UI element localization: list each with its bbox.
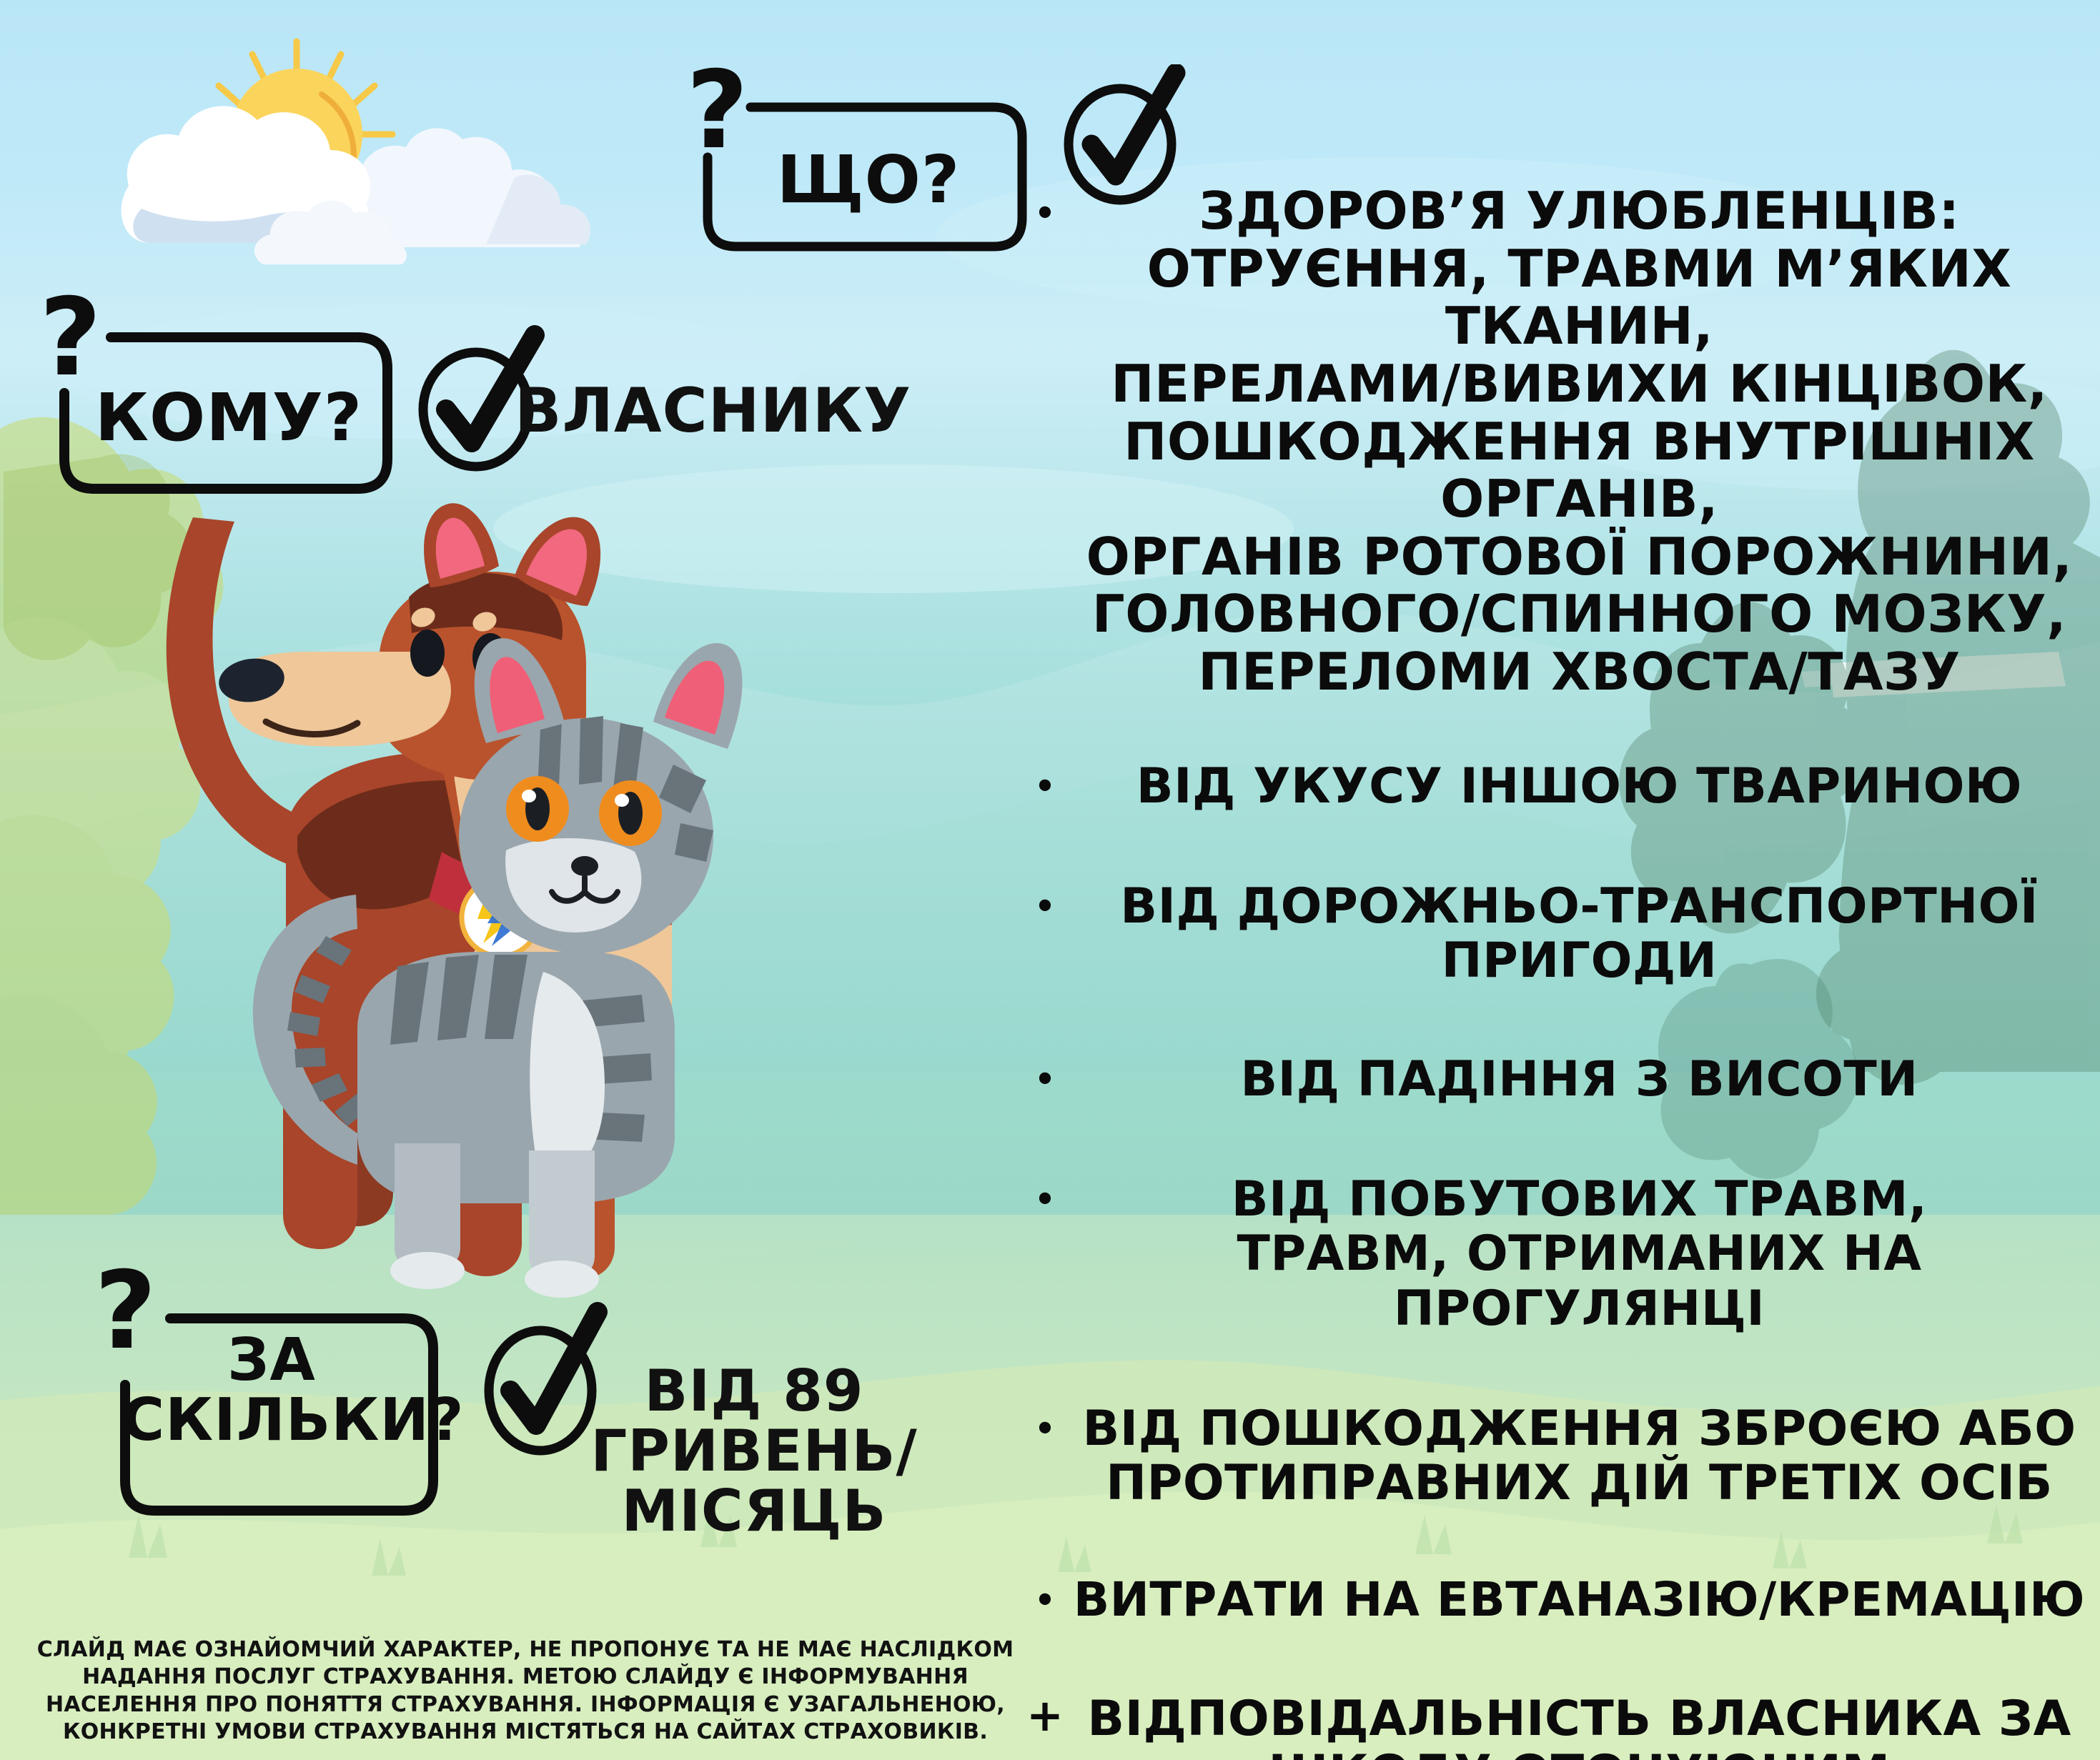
list-item[interactable]: • ЗДОРОВ’Я УЛЮБЛЕНЦІВ: ОТРУЄННЯ, ТРАВМИ … bbox=[1022, 182, 2091, 701]
plus-marker: + bbox=[1022, 1692, 1068, 1738]
pets-illustration bbox=[143, 500, 929, 1343]
bullet-marker: • bbox=[1022, 1402, 1068, 1445]
answer-how-much: ВІД 89 ГРИВЕНЬ/МІСЯЦЬ bbox=[511, 1361, 997, 1541]
list-item[interactable]: • ВІД ПАДІННЯ З ВИСОТИ bbox=[1022, 1053, 2091, 1107]
question-label-to-whom: КОМУ? bbox=[79, 384, 379, 452]
bullet-marker: • bbox=[1022, 1053, 1068, 1095]
bullet-marker: • bbox=[1022, 760, 1068, 802]
question-mark-icon: ? bbox=[39, 284, 101, 392]
coverage-text: ВІД УКУСУ ІНШОЮ ТВАРИНОЮ bbox=[1068, 760, 2091, 814]
bullet-marker: • bbox=[1022, 1173, 1068, 1215]
infographic-slide: ? ЩО? ? КОМУ? ВЛАСНИКУ ? ЗА СКІЛЬКИ? ВІД… bbox=[0, 0, 2100, 1760]
sun-and-clouds-illustration bbox=[86, 7, 672, 264]
coverage-text: ВІДПОВІДАЛЬНІСТЬ ВЛАСНИКА ЗА ШКОДУ ОТОЧУ… bbox=[1068, 1692, 2091, 1760]
question-card-to-whom[interactable]: ? КОМУ? bbox=[43, 300, 422, 507]
coverage-text: ВІД ДОРОЖНЬО-ТРАНСПОРТНОЇ ПРИГОДИ bbox=[1068, 880, 2091, 988]
list-item[interactable]: • ВІД ПОШКОДЖЕННЯ ЗБРОЄЮ АБО ПРОТИПРАВНИ… bbox=[1022, 1402, 2091, 1511]
list-item[interactable]: • ВІД ДОРОЖНЬО-ТРАНСПОРТНОЇ ПРИГОДИ bbox=[1022, 880, 2091, 988]
coverage-text: ВІД ПАДІННЯ З ВИСОТИ bbox=[1068, 1053, 2091, 1107]
coverage-text: ВІД ПОБУТОВИХ ТРАВМ, ТРАВМ, ОТРИМАНИХ НА… bbox=[1068, 1173, 2091, 1336]
question-card-what[interactable]: ? ЩО? bbox=[686, 71, 1058, 264]
list-item[interactable]: • ВІД ПОБУТОВИХ ТРАВМ, ТРАВМ, ОТРИМАНИХ … bbox=[1022, 1173, 2091, 1336]
answer-to-whom: ВЛАСНИКУ bbox=[515, 379, 911, 443]
coverage-text: ЗДОРОВ’Я УЛЮБЛЕНЦІВ: ОТРУЄННЯ, ТРАВМИ М’… bbox=[1068, 182, 2091, 701]
list-item[interactable]: + ВІДПОВІДАЛЬНІСТЬ ВЛАСНИКА ЗА ШКОДУ ОТО… bbox=[1022, 1692, 2091, 1760]
list-item[interactable]: • ВІД УКУСУ ІНШОЮ ТВАРИНОЮ bbox=[1022, 760, 2091, 814]
coverage-text: ВІД ПОШКОДЖЕННЯ ЗБРОЄЮ АБО ПРОТИПРАВНИХ … bbox=[1068, 1402, 2091, 1511]
question-label-how-much: ЗА СКІЛЬКИ? bbox=[122, 1331, 422, 1450]
disclaimer-text: СЛАЙД МАЄ ОЗНАЙОМЧИЙ ХАРАКТЕР, НЕ ПРОПОН… bbox=[36, 1636, 1015, 1746]
bullet-marker: • bbox=[1022, 880, 1068, 923]
question-label-what: ЩО? bbox=[729, 146, 1008, 214]
bullet-marker: • bbox=[1022, 182, 1068, 229]
coverage-text: ВИТРАТИ НА ЕВТАНАЗІЮ/КРЕМАЦІЮ bbox=[1068, 1573, 2091, 1626]
list-item[interactable]: • ВИТРАТИ НА ЕВТАНАЗІЮ/КРЕМАЦІЮ bbox=[1022, 1573, 2091, 1626]
bullet-marker: • bbox=[1022, 1573, 1068, 1616]
coverage-list: • ЗДОРОВ’Я УЛЮБЛЕНЦІВ: ОТРУЄННЯ, ТРАВМИ … bbox=[1022, 182, 2091, 1760]
